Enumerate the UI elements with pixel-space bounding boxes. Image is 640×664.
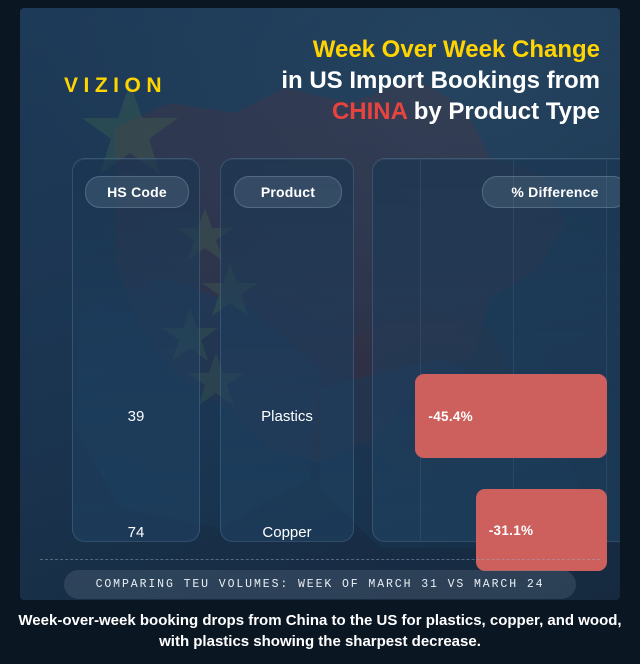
title-line-3: CHINA by Product Type — [180, 96, 600, 127]
product-cell-0: Plastics — [221, 401, 353, 431]
page-title: Week Over Week Change in US Import Booki… — [180, 34, 600, 128]
title-line-1: Week Over Week Change — [180, 34, 600, 65]
title-line-2: in US Import Bookings from — [180, 65, 600, 96]
summary-caption: Week-over-week booking drops from China … — [14, 610, 626, 653]
hs-code-column-card: HS Code 39 74 44 — [72, 158, 200, 542]
bar-label-copper: -31.1% — [489, 523, 534, 538]
product-value-0: Plastics — [261, 408, 313, 425]
chart-gridline-3 — [606, 160, 607, 540]
bar-plastics: -45.4% — [415, 374, 607, 458]
footer-divider — [40, 559, 600, 560]
hs-code-header-pill: HS Code — [85, 176, 189, 208]
hs-code-cell-0: 39 — [73, 401, 199, 431]
difference-header-pill: % Difference — [482, 176, 620, 208]
product-value-1: Copper — [262, 524, 311, 541]
chart-gridline-2 — [513, 160, 514, 540]
difference-chart-card: % Difference -45.4% -31.1% -24.0% — [372, 158, 620, 542]
infographic-frame: VIZION Week Over Week Change in US Impor… — [0, 0, 640, 664]
main-panel: VIZION Week Over Week Change in US Impor… — [20, 8, 620, 600]
comparison-note-pill: COMPARING TEU VOLUMES: WEEK OF MARCH 31 … — [64, 570, 576, 599]
hs-code-value-0: 39 — [128, 408, 145, 425]
product-cell-1: Copper — [221, 517, 353, 547]
hs-code-value-1: 74 — [128, 524, 145, 541]
title-china-highlight: CHINA — [332, 98, 407, 125]
product-column-card: Product Plastics Copper Wood — [220, 158, 354, 542]
chart-gridline-1 — [420, 160, 421, 540]
bar-label-plastics: -45.4% — [428, 409, 473, 424]
hs-code-cell-1: 74 — [73, 517, 199, 547]
title-line-3-rest: by Product Type — [407, 98, 600, 125]
product-header-pill: Product — [234, 176, 342, 208]
vizion-logo: VIZION — [64, 74, 167, 98]
